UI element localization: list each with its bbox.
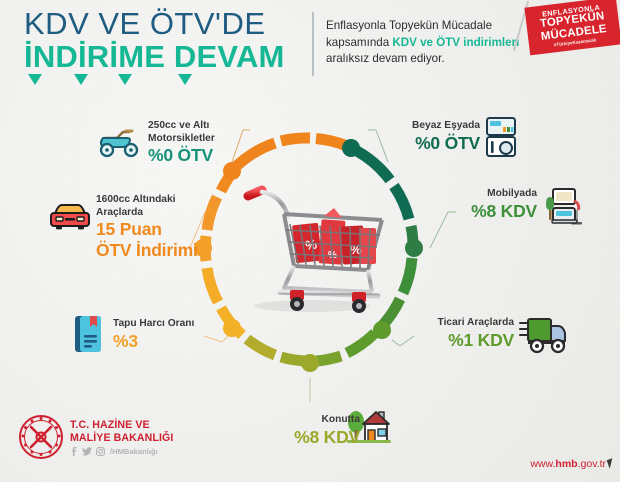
header-divider	[312, 12, 314, 76]
down-arrow-icon	[178, 74, 192, 85]
shopping-cart-icon: % % %	[232, 178, 392, 318]
social-links[interactable]: /HMBakanlığı	[70, 447, 158, 456]
website-prefix: www.	[530, 458, 555, 470]
item-caption: Konutta	[276, 414, 360, 427]
truck-icon	[519, 313, 569, 355]
website-url[interactable]: www.hmb.gov.tr	[530, 458, 606, 470]
lead-highlight: KDV ve ÖTV indirimleri	[392, 36, 519, 49]
car-icon	[48, 198, 92, 232]
item-motosiklet: 250cc ve Altı Motorsikletler %0 ÖTV	[148, 120, 240, 166]
item-tapu: Tapu Harcı Oranı %3	[113, 318, 213, 352]
item-value: %8 KDV	[455, 201, 537, 222]
item-value-line-2: ÖTV İndirimi	[96, 240, 201, 261]
lead-text-part2: aralıksız devam ediyor.	[326, 52, 445, 65]
item-caption: Beyaz Eşyada	[398, 120, 480, 133]
ministry-name-line-1: T.C. HAZİNE VE	[70, 419, 173, 432]
ring-node	[301, 354, 319, 372]
item-value: %8 KDV	[276, 427, 360, 448]
ring-node	[405, 239, 423, 257]
down-arrow-icon	[74, 74, 88, 85]
washing-machine-icon	[484, 115, 518, 159]
item-caption: 1600cc Altındaki Araçlarda	[96, 194, 201, 219]
ministry-seal-icon	[18, 414, 64, 460]
item-value: %0 ÖTV	[398, 133, 480, 154]
ministry-name-line-2: MALİYE BAKANLIĞI	[70, 432, 173, 445]
instagram-icon	[96, 447, 105, 456]
twitter-icon	[82, 447, 92, 456]
lead-paragraph: Enflasyonla Topyekün Mücadale kapsamında…	[326, 18, 541, 68]
page-title: KDV VE ÖTV'DE İNDİRİME DEVAM	[24, 8, 296, 74]
infographic-canvas: KDV VE ÖTV'DE İNDİRİME DEVAM Enflasyonla…	[0, 0, 620, 482]
campaign-stamp: ENFLASYONLA TOPYEKÜN MÜCADELE #TürkiyeKa…	[524, 0, 620, 55]
ring-node	[223, 319, 241, 337]
item-beyaz-esya: Beyaz Eşyada %0 ÖTV	[398, 120, 480, 154]
ring-node	[373, 321, 391, 339]
item-value-line-1: 15 Puan	[96, 219, 201, 240]
social-handle: /HMBakanlığı	[110, 447, 158, 456]
item-ticari-arac: Ticari Araçlarda %1 KDV	[424, 317, 514, 351]
item-arac1600: 1600cc Altındaki Araçlarda 15 Puan ÖTV İ…	[96, 194, 201, 261]
deed-document-icon	[72, 313, 106, 355]
website-brand: hmb	[555, 458, 577, 470]
item-caption: Tapu Harcı Oranı	[113, 318, 213, 331]
item-caption: 250cc ve Altı Motorsikletler	[148, 120, 240, 145]
down-arrow-group	[26, 74, 296, 90]
item-mobilya: Mobilyada %8 KDV	[455, 188, 537, 222]
item-value: %1 KDV	[424, 330, 514, 351]
down-arrow-icon	[28, 74, 42, 85]
mouse-cursor	[607, 458, 616, 469]
facebook-icon	[70, 447, 78, 456]
scooter-icon	[97, 124, 143, 160]
furniture-icon	[541, 186, 585, 226]
item-value: %0 ÖTV	[148, 145, 240, 166]
ministry-logo: T.C. HAZİNE VE MALİYE BAKANLIĞI /HMBakan…	[18, 414, 208, 468]
title-line-1: KDV VE ÖTV'DE	[24, 8, 296, 40]
item-konut: Konutta %8 KDV	[276, 414, 360, 448]
title-line-2: İNDİRİME DEVAM	[24, 40, 296, 74]
down-arrow-icon	[118, 74, 132, 85]
item-caption: Mobilyada	[455, 188, 537, 201]
website-suffix: .gov.tr	[578, 458, 606, 470]
ring-node	[342, 139, 360, 157]
item-caption: Ticari Araçlarda	[424, 317, 514, 330]
item-value: %3	[113, 331, 213, 352]
